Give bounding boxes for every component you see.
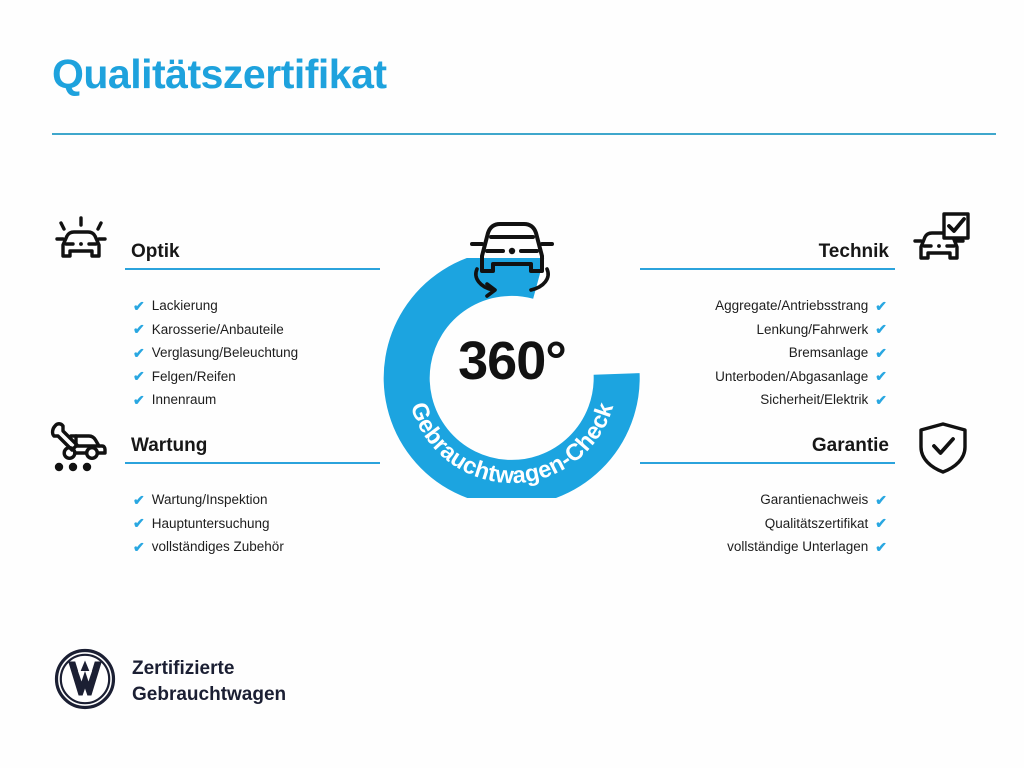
check-icon: ✔ xyxy=(133,299,145,313)
list-item: Lenkung/Fahrwerk ✔ xyxy=(640,318,887,342)
car-360-rotation-icon xyxy=(453,196,571,300)
list-item-label: Innenraum xyxy=(152,388,217,412)
list-item: Aggregate/Antriebsstrang ✔ xyxy=(640,294,887,318)
list-item-label: Karosserie/Anbauteile xyxy=(152,318,284,342)
list-item-label: Garantienachweis xyxy=(760,488,868,512)
list-item-label: Hauptuntersuchung xyxy=(152,512,270,536)
check-icon: ✔ xyxy=(875,346,887,360)
section-wartung-header: Wartung xyxy=(125,432,380,474)
list-item: ✔ Karosserie/Anbauteile xyxy=(133,318,380,342)
check-icon: ✔ xyxy=(133,493,145,507)
section-optik-divider xyxy=(125,268,380,270)
section-wartung-divider xyxy=(125,462,380,464)
list-item: ✔ Innenraum xyxy=(133,388,380,412)
certificate-page: Qualitätszertifikat Optik ✔ Lackierung ✔… xyxy=(0,0,1024,768)
page-title: Qualitätszertifikat xyxy=(52,52,387,97)
section-garantie-list: Garantienachweis ✔ Qualitätszertifikat ✔… xyxy=(640,488,895,559)
header-divider xyxy=(52,133,996,135)
list-item: ✔ vollständiges Zubehör xyxy=(133,535,380,559)
badge-degrees-label: 360° xyxy=(376,330,648,392)
list-item: Unterboden/Abgasanlage ✔ xyxy=(640,365,887,389)
list-item: ✔ Wartung/Inspektion xyxy=(133,488,380,512)
list-item: Bremsanlage ✔ xyxy=(640,341,887,365)
list-item-label: Lackierung xyxy=(152,294,218,318)
check-icon: ✔ xyxy=(875,322,887,336)
section-garantie-header: Garantie xyxy=(640,432,895,474)
section-garantie-divider xyxy=(640,462,895,464)
section-wartung-title: Wartung xyxy=(125,432,380,460)
list-item-label: Verglasung/Beleuchtung xyxy=(152,341,298,365)
check-icon: ✔ xyxy=(875,369,887,383)
section-technik: Technik Aggregate/Antriebsstrang ✔ Lenku… xyxy=(640,238,895,412)
section-technik-list: Aggregate/Antriebsstrang ✔ Lenkung/Fahrw… xyxy=(640,294,895,412)
check-icon: ✔ xyxy=(133,346,145,360)
list-item: Qualitätszertifikat ✔ xyxy=(640,512,887,536)
list-item: ✔ Verglasung/Beleuchtung xyxy=(133,341,380,365)
list-item: Sicherheit/Elektrik ✔ xyxy=(640,388,887,412)
list-item-label: Aggregate/Antriebsstrang xyxy=(715,294,868,318)
check-icon: ✔ xyxy=(875,493,887,507)
list-item-label: Qualitätszertifikat xyxy=(765,512,869,536)
list-item-label: Unterboden/Abgasanlage xyxy=(715,365,868,389)
check-icon: ✔ xyxy=(133,369,145,383)
car-front-shine-icon xyxy=(48,206,114,272)
list-item: ✔ Hauptuntersuchung xyxy=(133,512,380,536)
vw-logo xyxy=(54,648,116,715)
list-item: ✔ Felgen/Reifen xyxy=(133,365,380,389)
list-item: Garantienachweis ✔ xyxy=(640,488,887,512)
section-optik-list: ✔ Lackierung ✔ Karosserie/Anbauteile ✔ V… xyxy=(125,294,380,412)
check-icon: ✔ xyxy=(875,540,887,554)
section-optik-title: Optik xyxy=(125,238,380,266)
shield-check-icon xyxy=(910,414,976,480)
footer-line-1: Zertifizierte xyxy=(132,656,286,682)
list-item-label: Sicherheit/Elektrik xyxy=(760,388,868,412)
car-front-checkbox-icon xyxy=(908,206,974,272)
footer-line-2: Gebrauchtwagen xyxy=(132,682,286,708)
list-item-label: Bremsanlage xyxy=(789,341,869,365)
list-item-label: Lenkung/Fahrwerk xyxy=(756,318,868,342)
check-icon: ✔ xyxy=(875,393,887,407)
section-optik: Optik ✔ Lackierung ✔ Karosserie/Anbautei… xyxy=(125,238,380,412)
check-icon: ✔ xyxy=(875,516,887,530)
list-item-label: vollständige Unterlagen xyxy=(727,535,868,559)
vw-footer: Zertifizierte Gebrauchtwagen xyxy=(54,648,286,715)
section-wartung-list: ✔ Wartung/Inspektion ✔ Hauptuntersuchung… xyxy=(125,488,380,559)
section-garantie: Garantie Garantienachweis ✔ Qualitätszer… xyxy=(640,432,895,559)
footer-brand-text: Zertifizierte Gebrauchtwagen xyxy=(132,656,286,708)
section-optik-header: Optik xyxy=(125,238,380,280)
section-technik-title: Technik xyxy=(640,238,895,266)
section-technik-divider xyxy=(640,268,895,270)
section-technik-header: Technik xyxy=(640,238,895,280)
check-icon: ✔ xyxy=(133,322,145,336)
check-icon: ✔ xyxy=(875,299,887,313)
check-icon: ✔ xyxy=(133,393,145,407)
list-item-label: vollständiges Zubehör xyxy=(152,535,284,559)
car-service-wrench-icon xyxy=(46,414,112,480)
section-garantie-title: Garantie xyxy=(640,432,895,460)
list-item-label: Felgen/Reifen xyxy=(152,365,236,389)
check-icon: ✔ xyxy=(133,516,145,530)
list-item: vollständige Unterlagen ✔ xyxy=(640,535,887,559)
check-icon: ✔ xyxy=(133,540,145,554)
list-item-label: Wartung/Inspektion xyxy=(152,488,268,512)
section-wartung: Wartung ✔ Wartung/Inspektion ✔ Hauptunte… xyxy=(125,432,380,559)
list-item: ✔ Lackierung xyxy=(133,294,380,318)
